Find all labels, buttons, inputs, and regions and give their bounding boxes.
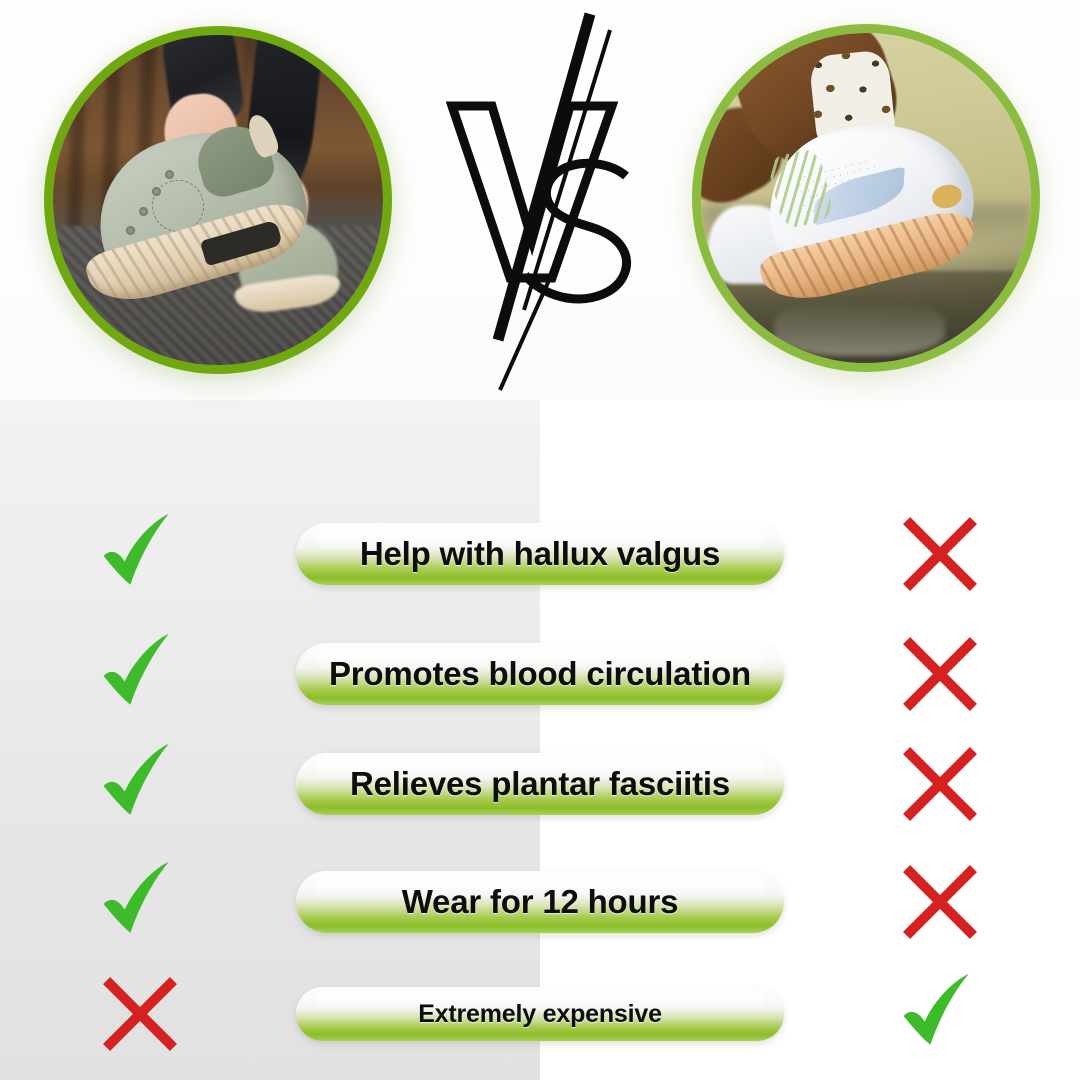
feature-label: Promotes blood circulation [329,655,751,693]
cross-icon [896,740,984,828]
table-row: Help with hallux valgus [0,512,1080,596]
feature-cell: Promotes blood circulation [280,643,800,705]
left-mark-cell [0,506,280,602]
check-icon [892,966,988,1062]
left-mark-cell [0,626,280,722]
cross-icon [896,630,984,718]
feature-label: Relieves plantar fasciitis [350,765,730,803]
feature-pill: Extremely expensive [296,987,784,1041]
check-icon [92,506,188,602]
feature-pill: Wear for 12 hours [296,871,784,933]
feature-pill: Help with hallux valgus [296,523,784,585]
left-mark-cell [0,970,280,1058]
left-mark-cell [0,854,280,950]
right-mark-cell [800,740,1080,828]
table-row: Promotes blood circulation [0,632,1080,716]
feature-cell: Extremely expensive [280,987,800,1041]
feature-label: Wear for 12 hours [402,883,679,921]
feature-label: Extremely expensive [418,1000,662,1029]
comparison-graphic: Help with hallux valgus Promotes blood c… [0,0,1080,1080]
right-mark-cell [800,510,1080,598]
check-icon [92,736,188,832]
comparison-table: Help with hallux valgus Promotes blood c… [0,0,1080,1080]
check-icon [92,854,188,950]
feature-cell: Relieves plantar fasciitis [280,753,800,815]
cross-icon [96,970,184,1058]
right-mark-cell [800,966,1080,1062]
table-row: Wear for 12 hours [0,860,1080,944]
feature-cell: Help with hallux valgus [280,523,800,585]
table-row: Extremely expensive [0,972,1080,1056]
table-row: Relieves plantar fasciitis [0,742,1080,826]
feature-pill: Relieves plantar fasciitis [296,753,784,815]
feature-cell: Wear for 12 hours [280,871,800,933]
cross-icon [896,510,984,598]
left-mark-cell [0,736,280,832]
feature-pill: Promotes blood circulation [296,643,784,705]
feature-label: Help with hallux valgus [360,535,720,573]
right-mark-cell [800,858,1080,946]
check-icon [92,626,188,722]
right-mark-cell [800,630,1080,718]
cross-icon [896,858,984,946]
